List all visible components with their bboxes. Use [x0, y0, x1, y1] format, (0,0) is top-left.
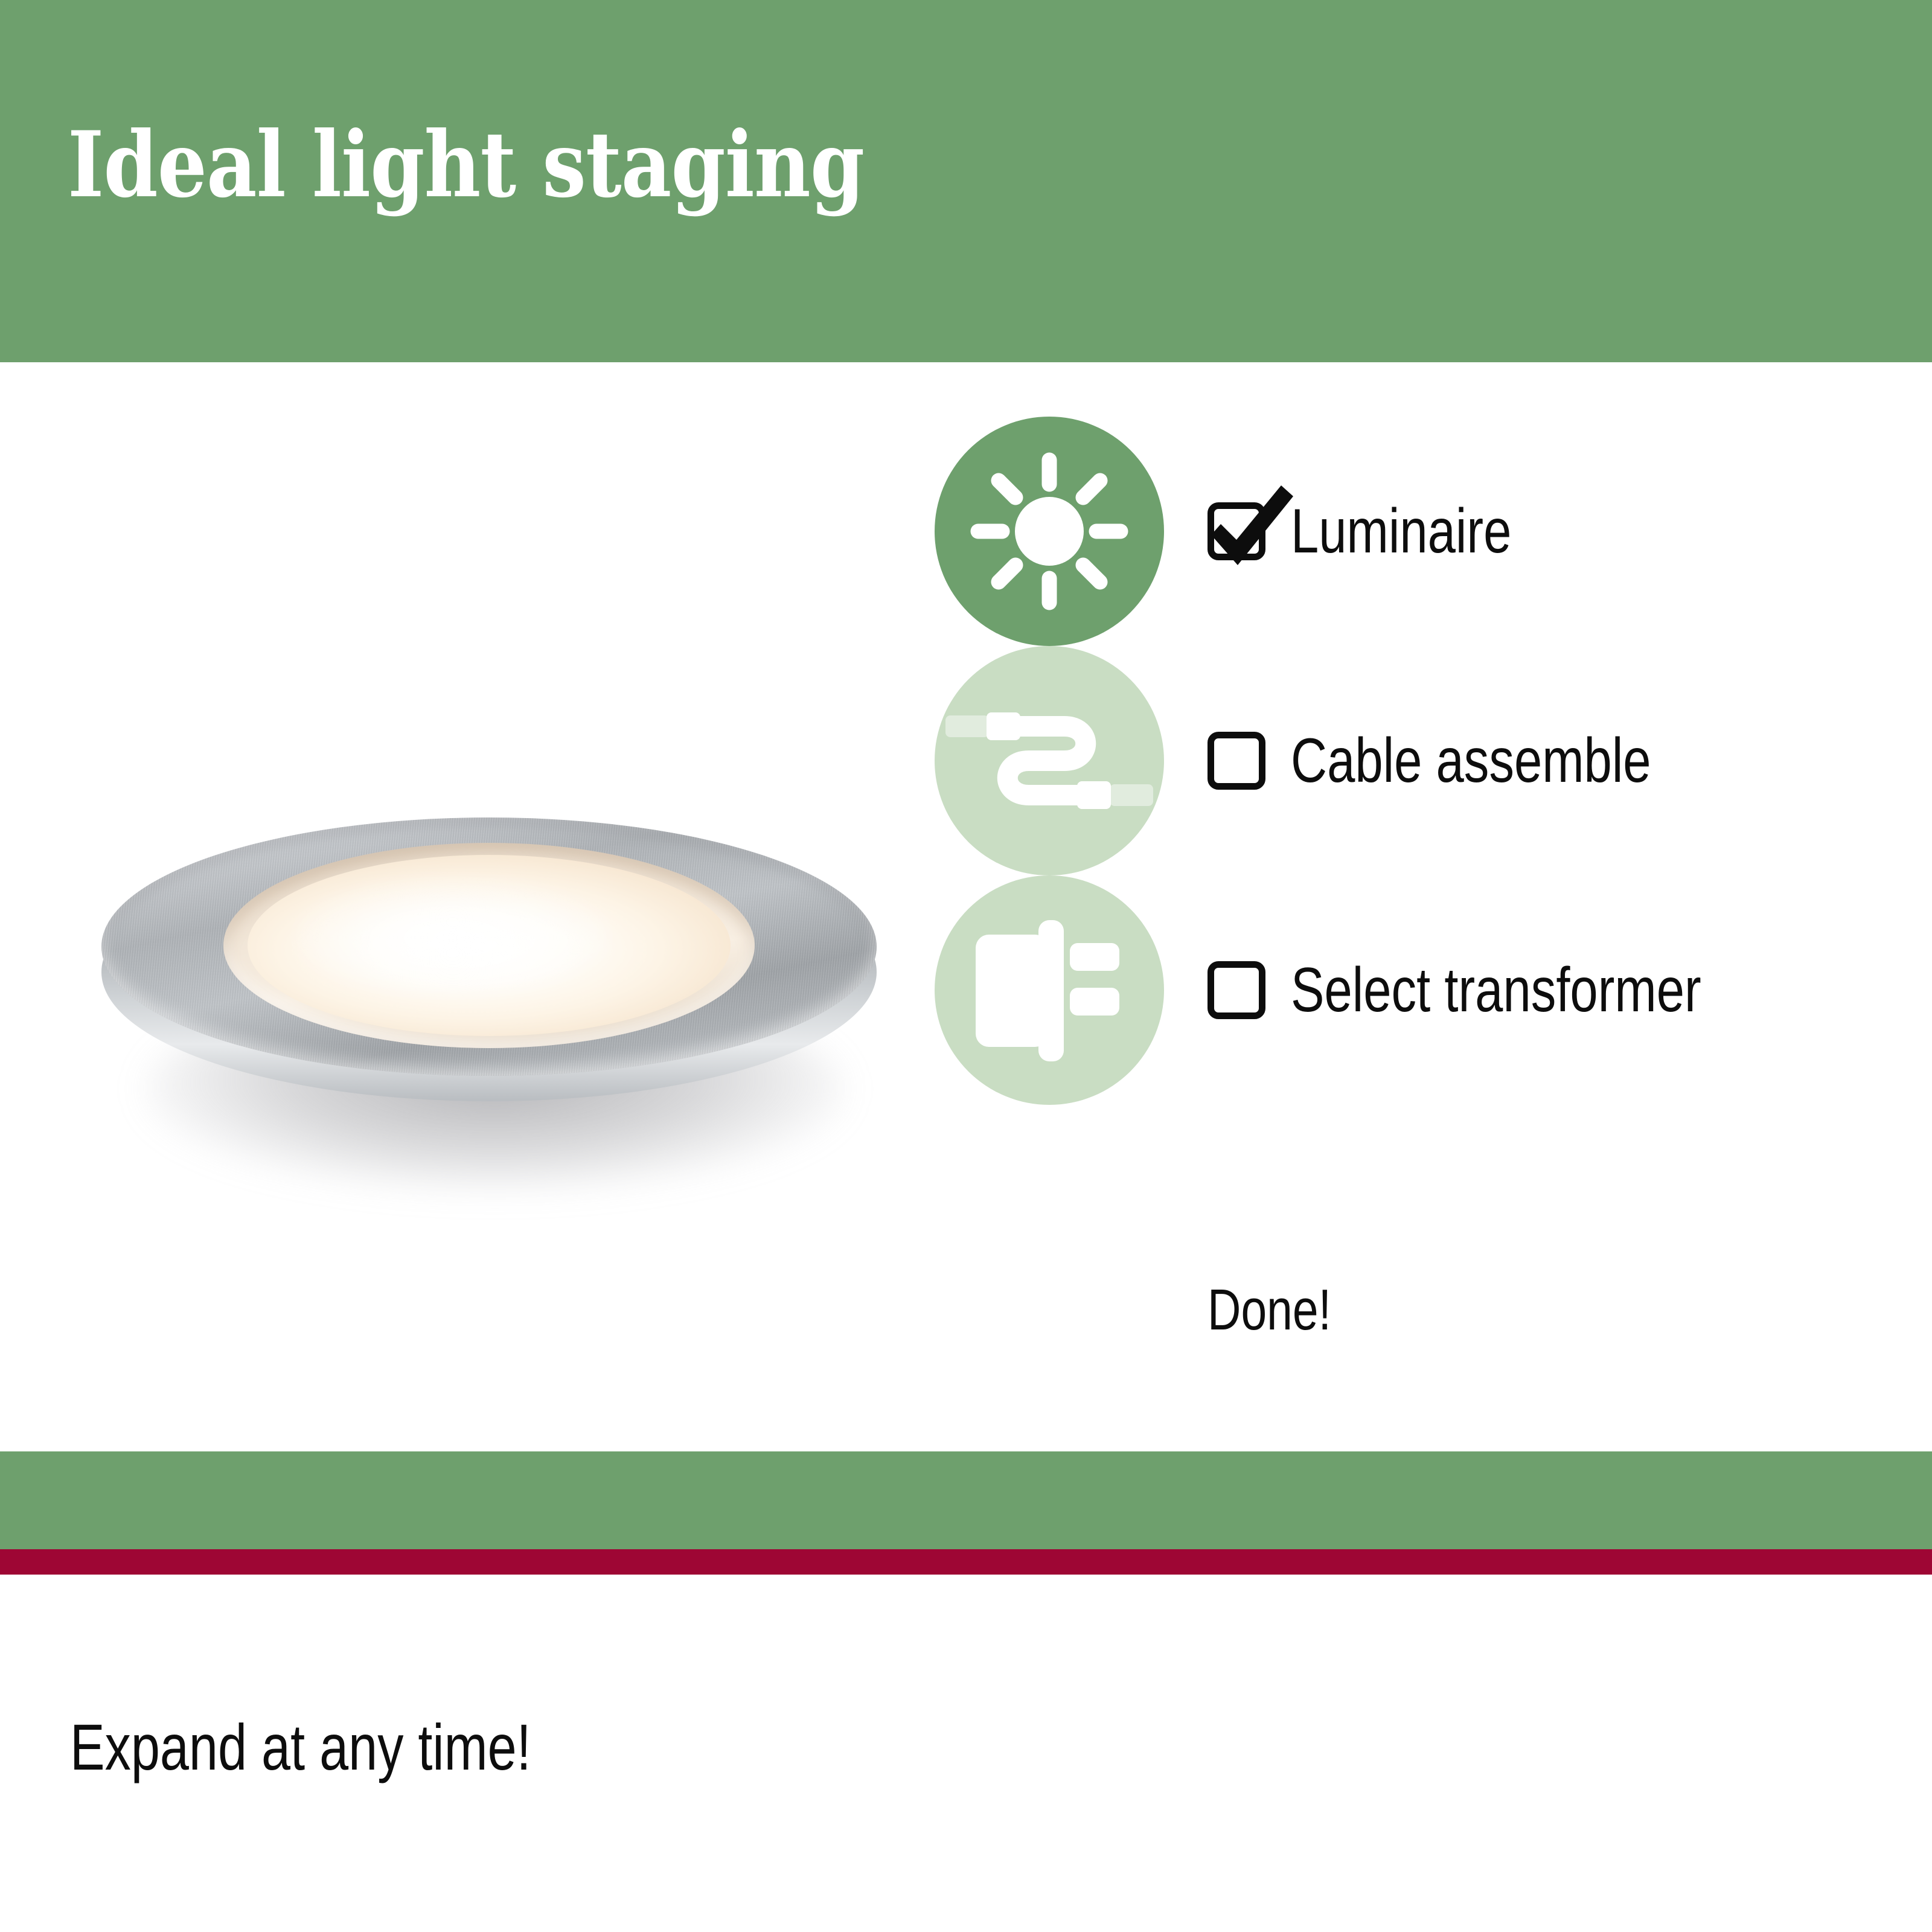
- page-title: Ideal light staging: [68, 114, 864, 216]
- checklist-row-select-transformer[interactable]: Select transformer: [935, 875, 1901, 1105]
- sun-icon: [935, 417, 1164, 646]
- checklist-row-luminaire[interactable]: Luminaire: [935, 417, 1901, 646]
- checklist-row-cable-assemble[interactable]: Cable assemble: [935, 646, 1901, 875]
- checkmark-icon: [1204, 477, 1294, 568]
- checkbox-box: [1207, 961, 1265, 1019]
- checklist-label-cable-assemble: Cable assemble: [1291, 729, 1651, 792]
- checkbox-select-transformer[interactable]: [1207, 961, 1265, 1019]
- footer-note: Expand at any time!: [70, 1713, 531, 1781]
- checklist-row-right-luminaire: Luminaire: [1207, 417, 1567, 646]
- checklist-row-right-cable-assemble: Cable assemble: [1207, 646, 1741, 875]
- done-label: Done!: [1207, 1280, 1331, 1340]
- checkbox-cable-assemble[interactable]: [1207, 732, 1265, 790]
- checkbox-luminaire[interactable]: [1207, 502, 1265, 560]
- footer-green-bar: [0, 1451, 1932, 1549]
- checkbox-box: [1207, 732, 1265, 790]
- checklist-row-right-select-transformer: Select transformer: [1207, 875, 1804, 1105]
- footer-accent-bar: [0, 1549, 1932, 1575]
- power-plug-icon: [935, 875, 1164, 1105]
- checklist-label-select-transformer: Select transformer: [1291, 959, 1701, 1022]
- checklist-label-luminaire: Luminaire: [1291, 500, 1511, 563]
- checklist: Luminaire Cable as: [935, 417, 1901, 1105]
- luminaire-graphic: [97, 815, 881, 1105]
- luminaire-lens-hotspot: [296, 880, 610, 995]
- product-image: [36, 791, 930, 1177]
- cable-icon: [935, 646, 1164, 875]
